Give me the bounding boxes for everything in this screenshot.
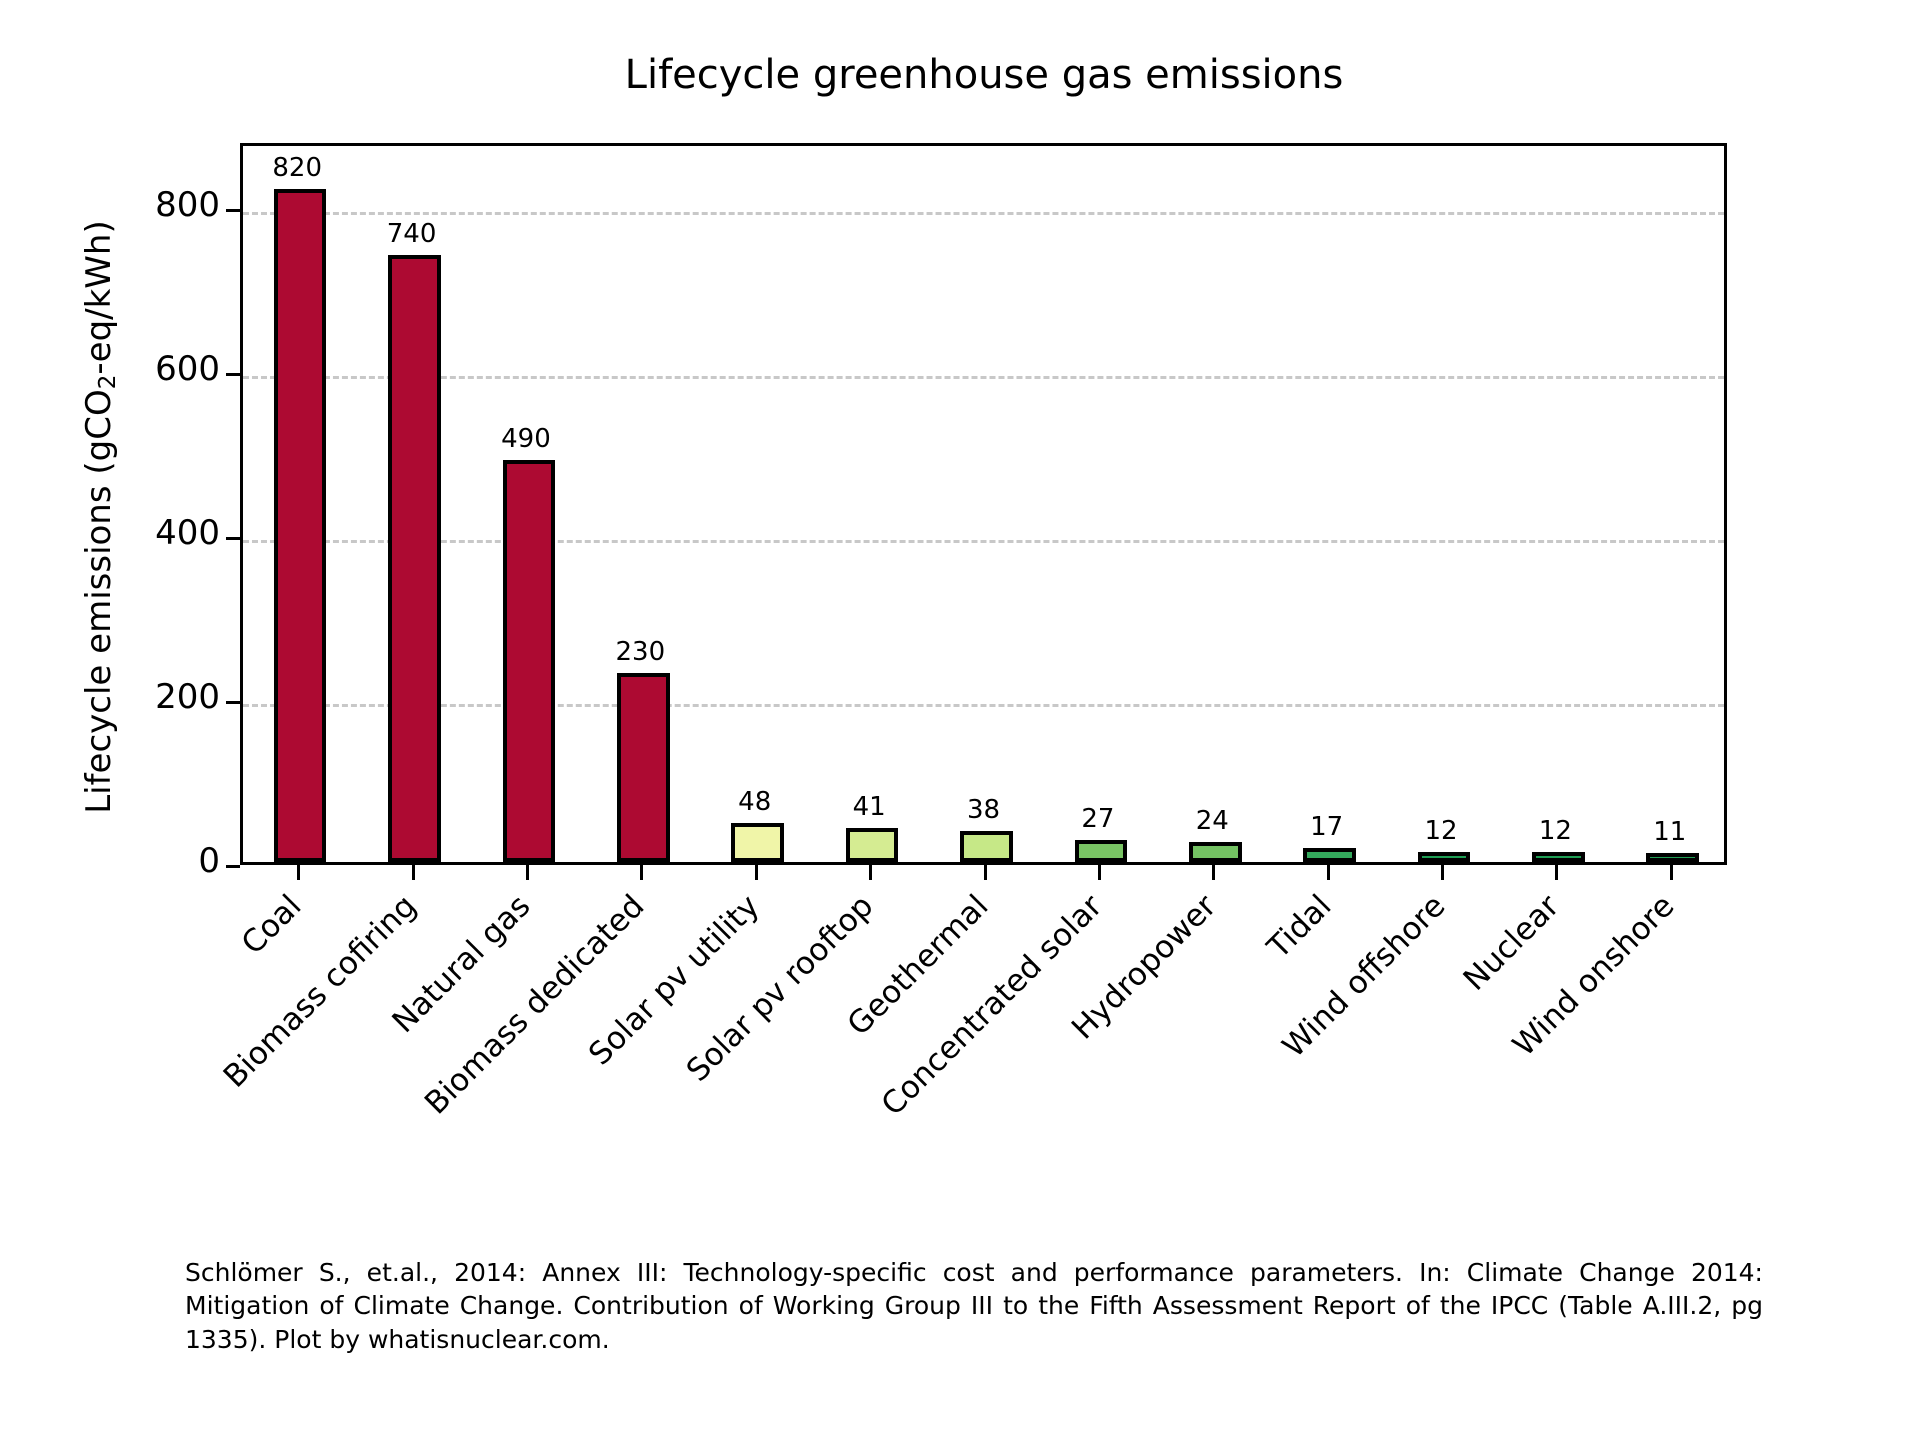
- bar-wind-offshore[interactable]: [1418, 852, 1471, 862]
- x-axis-tick-mark: [984, 865, 987, 880]
- bar-value-label-natural-gas: 490: [466, 426, 586, 452]
- bar-value-label-biomass-cofiring: 740: [352, 221, 472, 247]
- x-axis-tick-mark: [297, 865, 300, 880]
- bar-value-label-solar-pv-utility: 48: [695, 789, 815, 815]
- gridline-200: [243, 704, 1724, 707]
- gridline-800: [243, 212, 1724, 215]
- y-axis-tick-label-0: 0: [80, 844, 220, 878]
- bar-value-label-tidal: 17: [1267, 814, 1387, 840]
- y-axis-tick-label-600: 600: [80, 352, 220, 386]
- x-axis-tick-label-concentrated-solar[interactable]: Concentrated solar: [874, 888, 1109, 1123]
- x-axis-tick-label-tidal[interactable]: Tidal: [1260, 888, 1338, 966]
- y-axis-tick-mark: [226, 209, 240, 212]
- x-axis-tick-mark: [1441, 865, 1444, 880]
- bar-biomass-dedicated[interactable]: [617, 673, 670, 862]
- bar-biomass-cofiring[interactable]: [388, 255, 441, 862]
- x-axis-tick-label-nuclear[interactable]: Nuclear: [1457, 888, 1567, 998]
- y-axis-tick-label-800: 800: [80, 188, 220, 222]
- y-axis-tick-label-200: 200: [80, 680, 220, 714]
- bar-wind-onshore[interactable]: [1646, 853, 1699, 862]
- x-axis-tick-mark: [1555, 865, 1558, 880]
- x-axis-tick-mark: [1212, 865, 1215, 880]
- x-axis-tick-mark: [412, 865, 415, 880]
- y-axis-tick-mark: [226, 537, 240, 540]
- y-axis-tick-label-400: 400: [80, 516, 220, 550]
- bar-geothermal[interactable]: [960, 831, 1013, 862]
- bar-value-label-wind-onshore: 11: [1610, 819, 1730, 845]
- y-axis-tick-mark: [226, 373, 240, 376]
- plot-area: [240, 143, 1727, 865]
- x-axis-tick-label-biomass-dedicated[interactable]: Biomass dedicated: [418, 888, 651, 1121]
- page-title: Lifecycle greenhouse gas emissions: [240, 52, 1728, 98]
- bar-value-label-wind-offshore: 12: [1381, 818, 1501, 844]
- x-axis-tick-mark: [640, 865, 643, 880]
- chart-figure: Lifecycle greenhouse gas emissions Lifec…: [0, 0, 1920, 1440]
- x-axis-tick-mark: [1670, 865, 1673, 880]
- bar-natural-gas[interactable]: [503, 460, 556, 862]
- y-axis-title-pre: Lifecycle emissions (gCO: [79, 389, 119, 814]
- bar-hydropower[interactable]: [1189, 842, 1242, 862]
- bar-value-label-solar-pv-rooftop: 41: [809, 794, 929, 820]
- x-axis-tick-label-coal[interactable]: Coal: [235, 888, 309, 962]
- bar-value-label-biomass-dedicated: 230: [580, 639, 700, 665]
- figure-caption: Schlömer S., et.al., 2014: Annex III: Te…: [185, 1256, 1763, 1356]
- bar-value-label-coal: 820: [237, 155, 357, 181]
- y-axis-tick-mark: [226, 701, 240, 704]
- bar-tidal[interactable]: [1303, 848, 1356, 862]
- bar-value-label-geothermal: 38: [924, 797, 1044, 823]
- bar-concentrated-solar[interactable]: [1075, 840, 1128, 862]
- x-axis-tick-mark: [1098, 865, 1101, 880]
- x-axis-tick-mark: [1327, 865, 1330, 880]
- x-axis-tick-mark: [755, 865, 758, 880]
- gridline-600: [243, 376, 1724, 379]
- bar-solar-pv-rooftop[interactable]: [846, 828, 899, 862]
- bar-coal[interactable]: [274, 189, 327, 862]
- x-axis-tick-mark: [869, 865, 872, 880]
- bar-value-label-nuclear: 12: [1495, 818, 1615, 844]
- x-axis-tick-mark: [526, 865, 529, 880]
- bar-value-label-concentrated-solar: 27: [1038, 806, 1158, 832]
- bar-value-label-hydropower: 24: [1152, 808, 1272, 834]
- bar-nuclear[interactable]: [1532, 852, 1585, 862]
- bar-solar-pv-utility[interactable]: [731, 823, 784, 862]
- x-axis-tick-label-biomass-cofiring[interactable]: Biomass cofiring: [216, 888, 423, 1095]
- y-axis-tick-mark: [226, 865, 240, 868]
- gridline-400: [243, 540, 1724, 543]
